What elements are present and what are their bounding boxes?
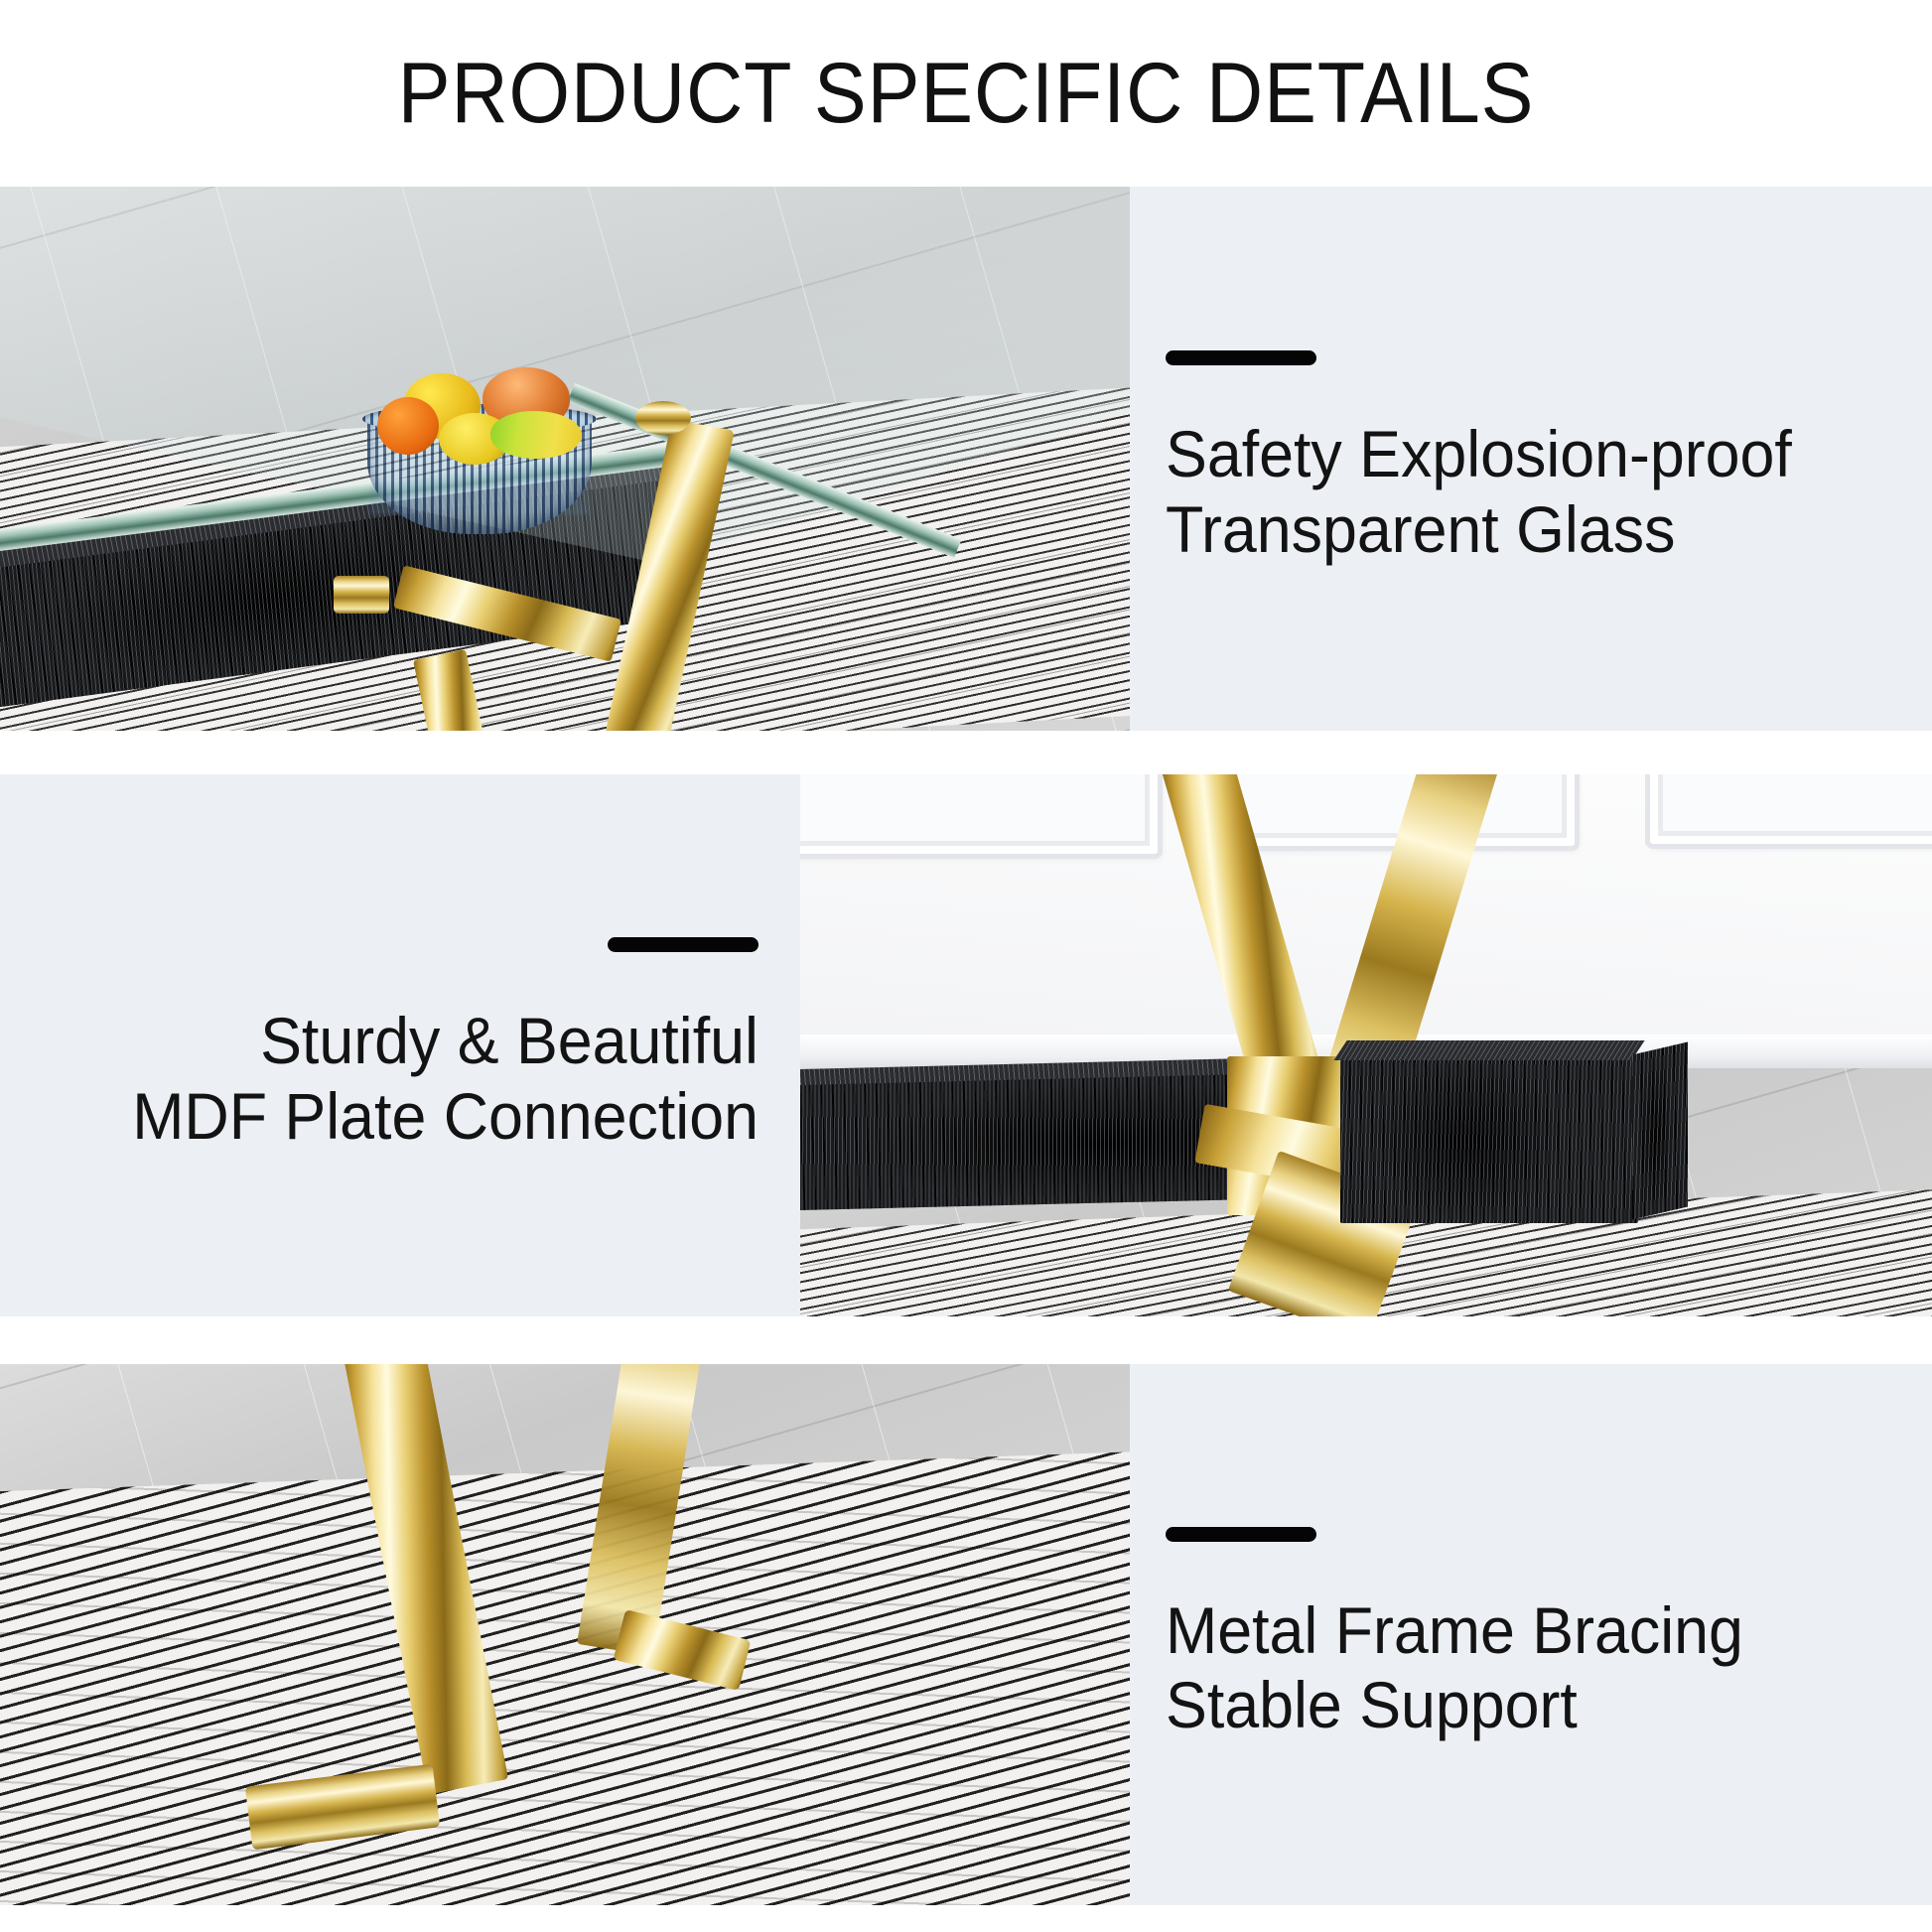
mdf-end-block-side (1632, 1042, 1688, 1220)
wall-moulding-left (800, 774, 1158, 854)
feature-photo-mdf-connection (800, 774, 1932, 1316)
rule-divider-icon (1166, 350, 1316, 365)
gold-leg-cap (635, 401, 691, 435)
caption-line-1: Safety Explosion-proof (1166, 417, 1792, 491)
feature-panel-safety-glass: Safety Explosion-proof Transparent Glass (0, 187, 1932, 731)
mdf-end-block-top (1333, 1040, 1644, 1060)
caption-line-1: Sturdy & Beautiful (132, 1004, 759, 1078)
feature-caption-mdf-connection: Sturdy & Beautiful MDF Plate Connection (132, 1004, 759, 1153)
caption-line-1: Metal Frame Bracing (1166, 1593, 1743, 1668)
striped-rug (0, 1449, 1130, 1905)
caption-line-2: Stable Support (1166, 1668, 1743, 1742)
mdf-end-block-face (1340, 1054, 1638, 1223)
rule-divider-icon (608, 937, 759, 952)
page-header: PRODUCT SPECIFIC DETAILS (0, 0, 1932, 187)
feature-panel-metal-frame: Metal Frame Bracing Stable Support (0, 1364, 1932, 1905)
feature-photo-safety-glass (0, 187, 1130, 731)
feature-photo-metal-frame (0, 1364, 1130, 1905)
feature-text-mdf-connection: Sturdy & Beautiful MDF Plate Connection (0, 774, 800, 1316)
feature-panel-mdf-connection: Sturdy & Beautiful MDF Plate Connection (0, 774, 1932, 1316)
feature-caption-metal-frame: Metal Frame Bracing Stable Support (1166, 1593, 1743, 1742)
feature-caption-safety-glass: Safety Explosion-proof Transparent Glass (1166, 417, 1792, 566)
fruit-mango-green (490, 411, 582, 459)
caption-line-2: Transparent Glass (1166, 492, 1792, 567)
caption-line-2: MDF Plate Connection (132, 1079, 759, 1154)
fruit-orange (377, 397, 439, 455)
product-detail-page: PRODUCT SPECIFIC DETAILS (0, 0, 1932, 1932)
wall-moulding-right (1650, 774, 1932, 844)
rule-divider-icon (1166, 1527, 1316, 1542)
feature-text-safety-glass: Safety Explosion-proof Transparent Glass (1130, 187, 1932, 731)
page-title: PRODUCT SPECIFIC DETAILS (398, 45, 1535, 143)
feature-text-metal-frame: Metal Frame Bracing Stable Support (1130, 1364, 1932, 1905)
gold-brace-cap (334, 576, 389, 614)
